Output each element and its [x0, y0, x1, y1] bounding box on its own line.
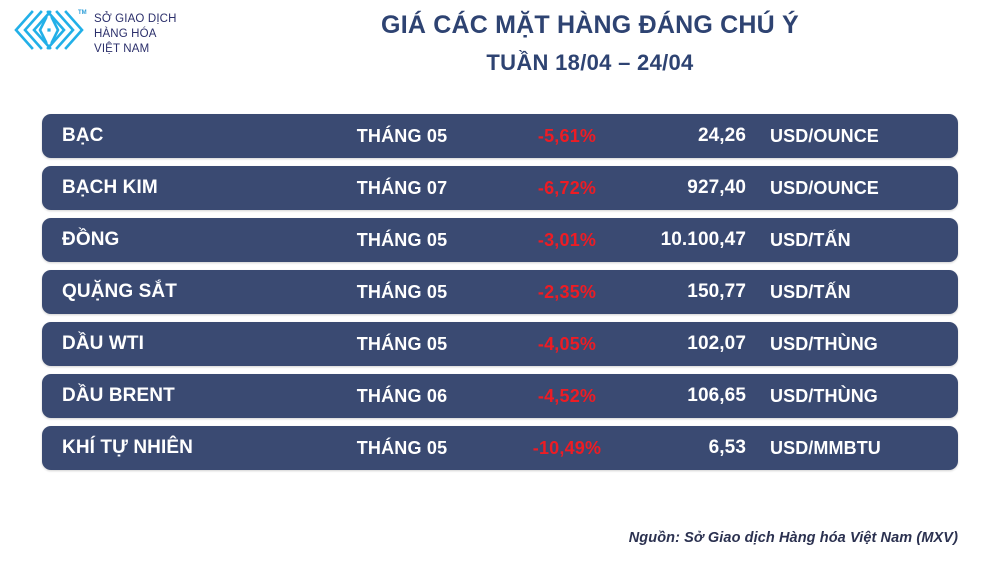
contract-month: THÁNG 06 — [312, 374, 492, 418]
mxv-logo: TM SỞ GIAO DỊCH HÀNG HÓA VIỆT NAM — [14, 10, 177, 58]
contract-month: THÁNG 05 — [312, 426, 492, 470]
contract-month: THÁNG 05 — [312, 270, 492, 314]
price-unit: USD/MMBTU — [770, 426, 940, 470]
price-value: 6,53 — [642, 426, 746, 470]
commodity-price-table: BẠCTHÁNG 05-5,61%24,26USD/OUNCEBẠCH KIMT… — [42, 114, 958, 470]
change-percent: -4,52% — [492, 374, 642, 418]
table-row: KHÍ TỰ NHIÊNTHÁNG 05-10,49%6,53USD/MMBTU — [42, 426, 958, 470]
change-percent: -5,61% — [492, 114, 642, 158]
change-percent: -10,49% — [492, 426, 642, 470]
commodity-name: BẠC — [62, 114, 312, 158]
title-block: GIÁ CÁC MẶT HÀNG ĐÁNG CHÚ Ý TUẦN 18/04 –… — [240, 10, 940, 77]
change-percent: -4,05% — [492, 322, 642, 366]
commodity-name: QUẶNG SẮT — [62, 270, 312, 314]
commodity-name: DẦU WTI — [62, 322, 312, 366]
price-unit: USD/OUNCE — [770, 114, 940, 158]
price-value: 927,40 — [642, 166, 746, 210]
commodity-name: KHÍ TỰ NHIÊN — [62, 426, 312, 470]
page-title: GIÁ CÁC MẶT HÀNG ĐÁNG CHÚ Ý — [240, 10, 940, 41]
logo-wordmark: SỞ GIAO DỊCH HÀNG HÓA VIỆT NAM — [94, 10, 177, 58]
page-subtitle: TUẦN 18/04 – 24/04 — [240, 50, 940, 76]
table-row: DẦU BRENTTHÁNG 06-4,52%106,65USD/THÙNG — [42, 374, 958, 418]
price-value: 106,65 — [642, 374, 746, 418]
contract-month: THÁNG 05 — [312, 114, 492, 158]
logo-line-3: VIỆT NAM — [94, 42, 177, 57]
logo-line-1: SỞ GIAO DỊCH — [94, 12, 177, 27]
commodity-name: ĐỒNG — [62, 218, 312, 262]
contract-month: THÁNG 05 — [312, 322, 492, 366]
table-row: QUẶNG SẮTTHÁNG 05-2,35%150,77USD/TẤN — [42, 270, 958, 314]
price-value: 150,77 — [642, 270, 746, 314]
price-unit: USD/TẤN — [770, 270, 940, 314]
mxv-chevron-maze-icon: TM — [14, 10, 84, 50]
price-unit: USD/OUNCE — [770, 166, 940, 210]
source-note: Nguồn: Sở Giao dịch Hàng hóa Việt Nam (M… — [629, 530, 958, 546]
change-percent: -2,35% — [492, 270, 642, 314]
commodity-name: DẦU BRENT — [62, 374, 312, 418]
contract-month: THÁNG 05 — [312, 218, 492, 262]
price-value: 10.100,47 — [642, 218, 746, 262]
table-row: ĐỒNGTHÁNG 05-3,01%10.100,47USD/TẤN — [42, 218, 958, 262]
price-unit: USD/THÙNG — [770, 322, 940, 366]
price-unit: USD/TẤN — [770, 218, 940, 262]
header-banner: TM SỞ GIAO DỊCH HÀNG HÓA VIỆT NAM GIÁ CÁ… — [0, 0, 1000, 100]
change-percent: -6,72% — [492, 166, 642, 210]
price-value: 102,07 — [642, 322, 746, 366]
trademark-icon: TM — [78, 10, 87, 16]
contract-month: THÁNG 07 — [312, 166, 492, 210]
table-row: BẠCH KIMTHÁNG 07-6,72%927,40USD/OUNCE — [42, 166, 958, 210]
table-row: DẦU WTITHÁNG 05-4,05%102,07USD/THÙNG — [42, 322, 958, 366]
change-percent: -3,01% — [492, 218, 642, 262]
logo-line-2: HÀNG HÓA — [94, 27, 177, 42]
price-unit: USD/THÙNG — [770, 374, 940, 418]
price-value: 24,26 — [642, 114, 746, 158]
commodity-name: BẠCH KIM — [62, 166, 312, 210]
table-row: BẠCTHÁNG 05-5,61%24,26USD/OUNCE — [42, 114, 958, 158]
